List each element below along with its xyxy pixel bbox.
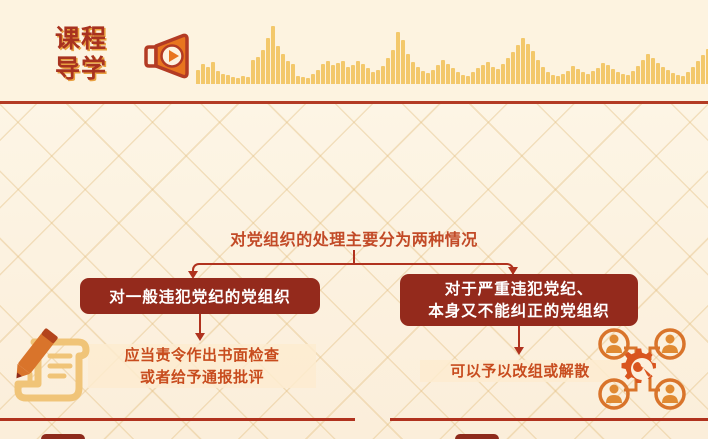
- waveform-bar: [316, 70, 320, 84]
- waveform-bar: [201, 64, 205, 84]
- waveform-bar: [406, 54, 410, 84]
- waveform-bar: [196, 70, 200, 84]
- waveform-bar: [566, 71, 570, 84]
- waveform-bar: [701, 55, 705, 84]
- waveform-bar: [661, 67, 665, 84]
- waveform-bar: [621, 74, 625, 84]
- waveform-bar: [581, 72, 585, 84]
- waveform-bar: [461, 75, 465, 84]
- waveform-bar: [491, 67, 495, 84]
- waveform-bar: [596, 68, 600, 84]
- waveform-bar: [236, 78, 240, 84]
- branch-right-statement-line1: 可以予以改组或解散: [420, 360, 620, 382]
- waveform-bar: [496, 69, 500, 84]
- diagram-canvas: 对党组织的处理主要分为两种情况 对一般违犯党纪的党组织 应当责令作出书面检查 或…: [0, 104, 708, 439]
- branch-right-statement: 可以予以改组或解散: [420, 360, 620, 382]
- waveform-bar: [411, 62, 415, 84]
- waveform-bar: [556, 76, 560, 84]
- waveform-bar: [586, 74, 590, 84]
- header-banner: 课程 导学: [0, 0, 708, 104]
- result-right-badge: 解散: [455, 434, 499, 439]
- waveform-bar: [261, 50, 265, 84]
- waveform-bar: [606, 65, 610, 84]
- waveform-bar: [386, 58, 390, 84]
- waveform-bar: [361, 64, 365, 84]
- branch-right-box: 对于严重违犯党纪、 本身又不能纠正的党组织: [400, 274, 638, 326]
- branch-left-statement-line1: 应当责令作出书面检查: [88, 344, 316, 366]
- waveform-bar: [256, 57, 260, 84]
- waveform-bar: [641, 60, 645, 84]
- waveform-bar: [276, 46, 280, 84]
- speaker-megaphone-icon: [142, 33, 194, 79]
- waveform-bar: [541, 67, 545, 84]
- waveform-bar: [416, 67, 420, 84]
- waveform-bar: [671, 73, 675, 84]
- waveform-bar: [551, 75, 555, 84]
- waveform-bar: [241, 76, 245, 84]
- waveform-bar: [221, 74, 225, 84]
- waveform-bar: [426, 73, 430, 84]
- waveform-bar: [351, 65, 355, 84]
- waveform-bar: [476, 68, 480, 84]
- result-left-subject: 党组织领导机构成员: [142, 434, 291, 439]
- waveform-bar: [481, 65, 485, 84]
- result-left-middle: 处理的: [89, 436, 139, 439]
- waveform-bar: [511, 52, 515, 84]
- waveform-bar: [271, 26, 275, 84]
- waveform-bar: [696, 61, 700, 84]
- logo-line-1: 课程: [55, 24, 133, 54]
- result-left-prefix: 受到: [4, 436, 37, 439]
- waveform-bar: [466, 76, 470, 84]
- waveform-bar: [306, 78, 310, 84]
- waveform-bar: [326, 61, 330, 84]
- waveform-bar: [646, 54, 650, 84]
- waveform-bar: [286, 61, 290, 84]
- waveform-bar: [381, 66, 385, 84]
- waveform-bar: [291, 64, 295, 84]
- waveform-bar: [266, 38, 270, 84]
- waveform-bar: [576, 69, 580, 84]
- waveform-bar: [331, 65, 335, 84]
- waveform-bar: [451, 68, 455, 84]
- waveform-bar: [431, 70, 435, 84]
- waveform-bar: [631, 71, 635, 84]
- waveform-bar: [231, 77, 235, 84]
- waveform-bar: [571, 66, 575, 84]
- waveform-bar: [611, 69, 615, 84]
- result-right-prefix: 受到: [418, 436, 451, 439]
- branch-left-stem: [199, 314, 201, 334]
- waveform-bar: [301, 77, 305, 84]
- infographic-slide: 课程 导学 对党组织的处理主要分为两种情况 对一般违犯党纪的党组织 应当: [0, 0, 708, 439]
- course-guide-logo: 课程 导学: [55, 24, 133, 86]
- branch-left-box: 对一般违犯党纪的党组织: [80, 278, 320, 314]
- waveform-bar: [601, 63, 605, 84]
- waveform-bar: [591, 71, 595, 84]
- waveform-bar: [486, 62, 490, 84]
- waveform-bar: [436, 65, 440, 84]
- waveform-bar: [626, 75, 630, 84]
- people-network-gear-icon: [598, 326, 686, 412]
- waveform-bar: [681, 76, 685, 84]
- waveform-bar: [371, 72, 375, 84]
- waveform-bar: [521, 38, 525, 84]
- waveform-bar: [226, 75, 230, 84]
- waveform-bar: [446, 64, 450, 84]
- waveform-bar: [691, 67, 695, 84]
- waveform-bar: [506, 58, 510, 84]
- waveform-bar: [501, 64, 505, 84]
- waveform-bar: [341, 61, 345, 84]
- branch-left-statement-line2: 或者给予通报批评: [88, 366, 316, 388]
- result-row-right: 受到 解散 处理的 党组织中的党员: [418, 434, 671, 439]
- waveform-bar: [441, 60, 445, 84]
- waveform-bar: [546, 72, 550, 84]
- waveform-bar: [376, 70, 380, 84]
- branch-left-arrow: [195, 333, 205, 341]
- waveform-bar: [526, 44, 530, 84]
- waveform-bar: [246, 77, 250, 84]
- waveform-bar: [666, 70, 670, 84]
- waveform-bar: [531, 51, 535, 84]
- waveform-bar: [296, 76, 300, 84]
- waveform-bar: [616, 72, 620, 84]
- waveform-bar: [356, 61, 360, 84]
- waveform-bar: [311, 74, 315, 84]
- branch-right-box-label-line2: 本身又不能纠正的党组织: [428, 300, 610, 322]
- waveform-bar: [676, 75, 680, 84]
- waveform-bar: [516, 45, 520, 84]
- page-title: 对党组织的处理主要分为两种情况: [0, 226, 708, 250]
- waveform-bar: [636, 66, 640, 84]
- waveform-bar: [651, 58, 655, 84]
- waveform-bar: [456, 72, 460, 84]
- waveform-bar: [321, 64, 325, 84]
- waveform-bar: [396, 32, 400, 84]
- divider-right: [390, 418, 708, 421]
- branch-left-box-label: 对一般违犯党纪的党组织: [109, 285, 291, 307]
- waveform-bar: [401, 40, 405, 84]
- waveform-bar: [471, 72, 475, 84]
- branch-right-arrow: [514, 347, 524, 355]
- waveform-bar: [211, 62, 215, 84]
- result-right-middle: 处理的: [503, 436, 553, 439]
- divider-left: [0, 418, 355, 421]
- logo-line-2: 导学: [55, 54, 133, 84]
- scroll-pencil-icon: [8, 322, 94, 410]
- waveform-bar: [686, 72, 690, 84]
- waveform-bar: [561, 74, 565, 84]
- waveform-bar: [206, 67, 210, 84]
- waveform-bar: [421, 71, 425, 84]
- result-left-badge: 改组: [41, 434, 85, 439]
- waveform-bar: [536, 60, 540, 84]
- branch-right-box-label-line1: 对于严重违犯党纪、: [445, 278, 594, 300]
- result-right-subject: 党组织中的党员: [556, 434, 672, 439]
- waveform-bar: [366, 68, 370, 84]
- waveform-bar: [251, 60, 255, 84]
- connector-stem: [353, 250, 355, 264]
- audio-waveform: [196, 22, 688, 84]
- branch-left-statement: 应当责令作出书面检查 或者给予通报批评: [88, 344, 316, 388]
- waveform-bar: [391, 50, 395, 84]
- waveform-bar: [336, 63, 340, 84]
- result-row-left: 受到 改组 处理的 党组织领导机构成员: [4, 434, 290, 439]
- waveform-bar: [216, 71, 220, 84]
- waveform-bar: [656, 63, 660, 84]
- waveform-bar: [281, 54, 285, 84]
- waveform-bar: [346, 67, 350, 84]
- branch-right-stem: [518, 326, 520, 348]
